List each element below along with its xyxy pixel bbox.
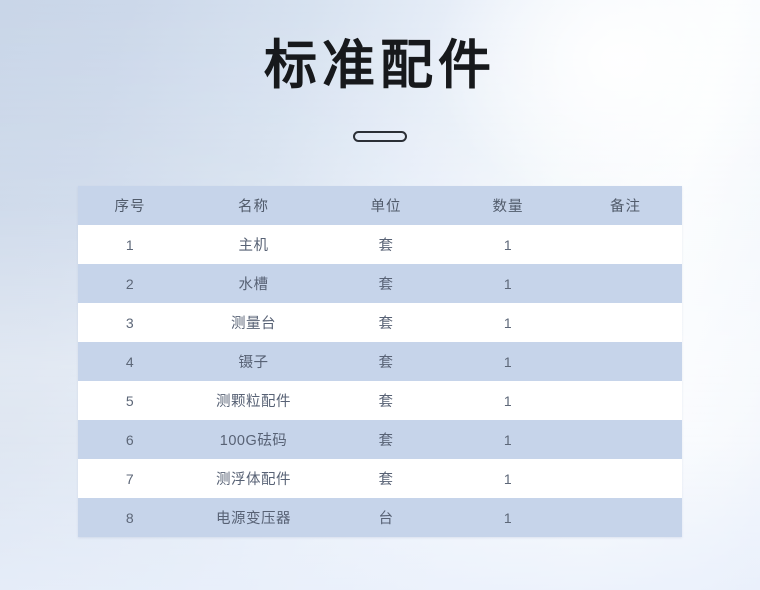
cell-no: 4	[78, 342, 182, 381]
cell-name: 电源变压器	[182, 498, 325, 537]
cell-name: 测浮体配件	[182, 459, 325, 498]
cell-qty: 1	[447, 303, 569, 342]
cell-unit: 套	[325, 420, 447, 459]
standard-accessories-table: 序号 名称 单位 数量 备注 1主机套12水槽套13测量台套14镊子套15测颗粒…	[78, 186, 682, 537]
cell-no: 8	[78, 498, 182, 537]
table-header: 序号 名称 单位 数量 备注	[78, 186, 682, 225]
cell-name: 主机	[182, 225, 325, 264]
cell-no: 6	[78, 420, 182, 459]
cell-name: 测量台	[182, 303, 325, 342]
cell-no: 7	[78, 459, 182, 498]
column-header-unit: 单位	[325, 186, 447, 225]
cell-qty: 1	[447, 459, 569, 498]
cell-remark	[569, 498, 682, 537]
cell-no: 5	[78, 381, 182, 420]
table-row: 5测颗粒配件套1	[78, 381, 682, 420]
title-divider-pill	[353, 131, 407, 142]
cell-unit: 套	[325, 459, 447, 498]
cell-remark	[569, 459, 682, 498]
cell-unit: 套	[325, 264, 447, 303]
cell-unit: 套	[325, 381, 447, 420]
cell-qty: 1	[447, 264, 569, 303]
cell-name: 水槽	[182, 264, 325, 303]
cell-remark	[569, 342, 682, 381]
table-row: 8电源变压器台1	[78, 498, 682, 537]
cell-unit: 套	[325, 303, 447, 342]
cell-qty: 1	[447, 381, 569, 420]
cell-qty: 1	[447, 498, 569, 537]
cell-qty: 1	[447, 420, 569, 459]
cell-no: 3	[78, 303, 182, 342]
page-root: 标准配件 序号 名称 单位 数量 备注 1主机套12水槽套13测量台套14镊子套…	[0, 0, 760, 590]
table-row: 1主机套1	[78, 225, 682, 264]
page-title: 标准配件	[0, 36, 760, 97]
cell-remark	[569, 381, 682, 420]
table-body: 1主机套12水槽套13测量台套14镊子套15测颗粒配件套16100G砝码套17测…	[78, 225, 682, 537]
table-header-row: 序号 名称 单位 数量 备注	[78, 186, 682, 225]
cell-unit: 套	[325, 342, 447, 381]
column-header-remark: 备注	[569, 186, 682, 225]
cell-name: 测颗粒配件	[182, 381, 325, 420]
cell-qty: 1	[447, 342, 569, 381]
table-row: 3测量台套1	[78, 303, 682, 342]
column-header-qty: 数量	[447, 186, 569, 225]
cell-no: 1	[78, 225, 182, 264]
cell-unit: 台	[325, 498, 447, 537]
cell-name: 100G砝码	[182, 420, 325, 459]
table-row: 7测浮体配件套1	[78, 459, 682, 498]
cell-remark	[569, 264, 682, 303]
cell-name: 镊子	[182, 342, 325, 381]
table-row: 4镊子套1	[78, 342, 682, 381]
cell-remark	[569, 225, 682, 264]
table-row: 6100G砝码套1	[78, 420, 682, 459]
cell-remark	[569, 303, 682, 342]
cell-no: 2	[78, 264, 182, 303]
table-row: 2水槽套1	[78, 264, 682, 303]
cell-qty: 1	[447, 225, 569, 264]
column-header-no: 序号	[78, 186, 182, 225]
column-header-name: 名称	[182, 186, 325, 225]
cell-remark	[569, 420, 682, 459]
cell-unit: 套	[325, 225, 447, 264]
